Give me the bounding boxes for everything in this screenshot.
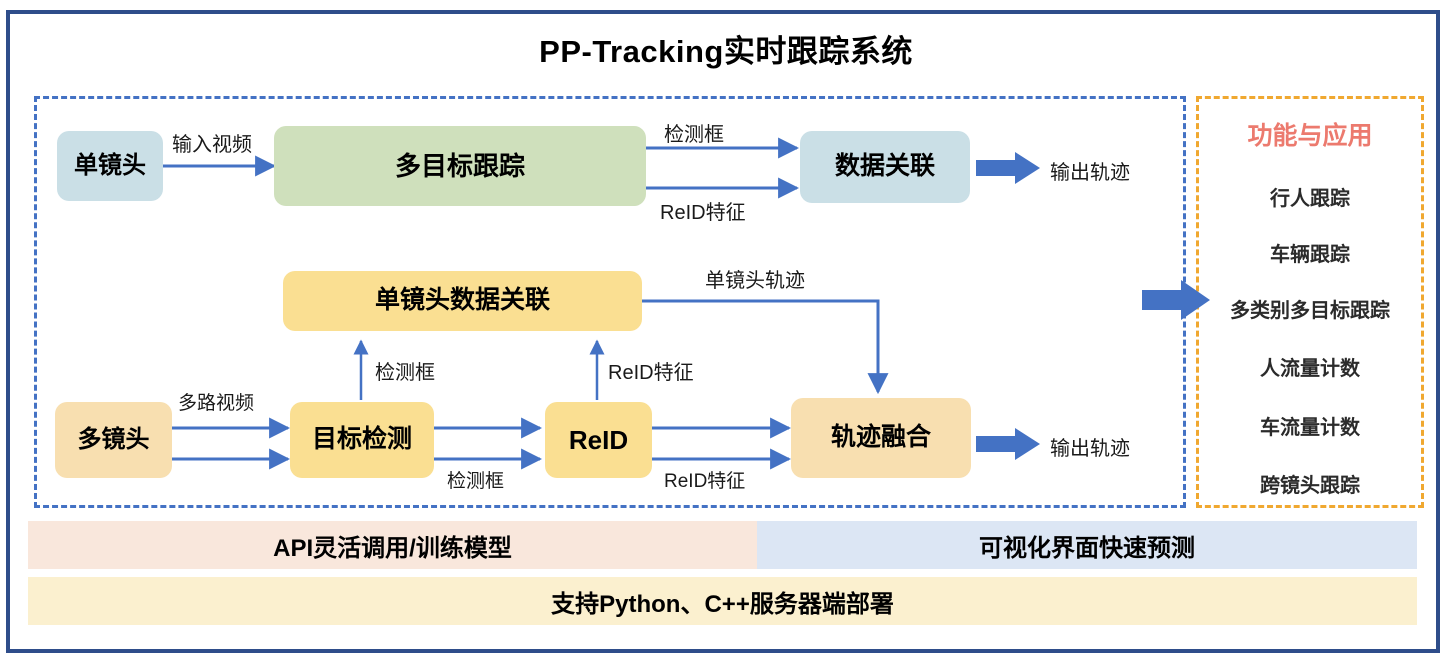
node-mot[interactable]: 多目标跟踪 xyxy=(274,126,646,206)
edge-label-single-track: 单镜头轨迹 xyxy=(705,264,805,293)
node-label: 数据关联 xyxy=(835,153,935,181)
node-label: ReID xyxy=(569,426,628,455)
edge-label-input-video: 输入视频 xyxy=(172,128,252,157)
edge-label-multi-video: 多路视频 xyxy=(178,388,254,415)
edge-label-detbox-low: 检测框 xyxy=(447,466,504,493)
node-label: 轨迹融合 xyxy=(831,424,931,452)
node-object-detection[interactable]: 目标检测 xyxy=(290,402,434,478)
app-item-4[interactable]: 车流量计数 xyxy=(1196,411,1424,440)
app-item-1[interactable]: 车辆跟踪 xyxy=(1196,238,1424,267)
apps-panel-title: 功能与应用 xyxy=(1196,116,1424,152)
edge-label-reid-low: ReID特征 xyxy=(664,466,745,493)
node-label: 单镜头 xyxy=(74,153,146,179)
node-label: 目标检测 xyxy=(312,426,412,454)
node-label: 多目标跟踪 xyxy=(395,152,525,181)
bar-api-training[interactable]: API灵活调用/训练模型 xyxy=(28,521,757,569)
edge-label-detbox-up: 检测框 xyxy=(375,356,435,385)
bar-label: 可视化界面快速预测 xyxy=(979,528,1195,563)
edge-label-reid-up: ReID特征 xyxy=(608,356,694,385)
node-single-camera-association[interactable]: 单镜头数据关联 xyxy=(283,271,642,331)
node-data-association[interactable]: 数据关联 xyxy=(800,131,970,203)
app-item-2[interactable]: 多类别多目标跟踪 xyxy=(1196,294,1424,323)
page-title: PP-Tracking实时跟踪系统 xyxy=(0,26,1452,71)
bar-visual-prediction[interactable]: 可视化界面快速预测 xyxy=(757,521,1417,569)
edge-label-detbox-top: 检测框 xyxy=(664,118,724,147)
edge-label-output-track-top: 输出轨迹 xyxy=(1050,156,1130,185)
bar-server-deployment[interactable]: 支持Python、C++服务器端部署 xyxy=(28,577,1417,625)
node-trajectory-fusion[interactable]: 轨迹融合 xyxy=(791,398,971,478)
node-multi-camera[interactable]: 多镜头 xyxy=(55,402,172,478)
node-single-camera[interactable]: 单镜头 xyxy=(57,131,163,201)
app-item-0[interactable]: 行人跟踪 xyxy=(1196,182,1424,211)
bar-label: 支持Python、C++服务器端部署 xyxy=(551,584,894,619)
bar-label: API灵活调用/训练模型 xyxy=(273,528,512,563)
edge-label-output-track-bottom: 输出轨迹 xyxy=(1050,432,1130,461)
node-label: 单镜头数据关联 xyxy=(375,287,550,315)
edge-label-reid-top: ReID特征 xyxy=(660,196,746,225)
node-reid[interactable]: ReID xyxy=(545,402,652,478)
app-item-3[interactable]: 人流量计数 xyxy=(1196,352,1424,381)
diagram-canvas: PP-Tracking实时跟踪系统 xyxy=(0,0,1452,664)
node-label: 多镜头 xyxy=(78,427,150,453)
app-item-5[interactable]: 跨镜头跟踪 xyxy=(1196,469,1424,498)
